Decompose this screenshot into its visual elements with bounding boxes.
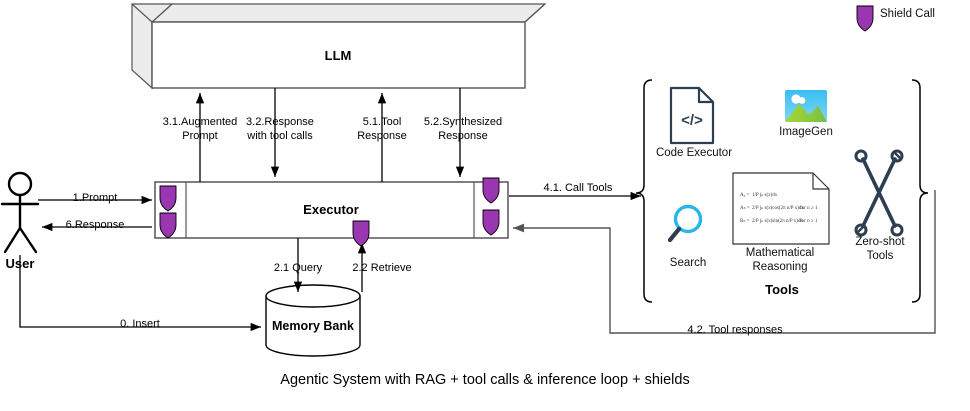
edge-insert — [20, 255, 261, 327]
tool-label-search: Search — [653, 257, 723, 271]
edge-label-insert: 0. Insert — [85, 318, 195, 332]
diagram-canvas: </> A₀ = 1/P ∫ₚ s(x)dx Aₙ = 2/P ∫ₚ s(x)c… — [0, 0, 970, 411]
svg-text:for n ≥ 1: for n ≥ 1 — [800, 206, 818, 211]
svg-text:for n ≥ 1: for n ≥ 1 — [800, 219, 818, 224]
edge-label-response-with-tool-calls: 3.2.Response with tool calls — [222, 116, 338, 144]
tool-label-math-reasoning: Mathematical Reasoning — [730, 247, 830, 275]
edge-label-retrieve: 2.2 Retrieve — [327, 262, 437, 276]
executor-node-label: Executor — [271, 202, 391, 218]
shield-icon-exec-in-1 — [160, 186, 176, 211]
tools-group-label: Tools — [722, 282, 842, 298]
llm-node-label: LLM — [278, 48, 398, 64]
edge-label-prompt: 1.Prompt — [40, 192, 150, 206]
image-picture-icon — [785, 90, 827, 122]
tool-label-code-executor: Code Executor — [644, 147, 744, 161]
crossed-wrenches-icon — [856, 151, 902, 235]
llm-node-shape — [132, 4, 545, 88]
legend-label-shield-call: Shield Call — [880, 8, 970, 22]
memory-bank-node-label: Memory Bank — [253, 319, 373, 335]
svg-text:A₀ =: A₀ = — [740, 193, 750, 198]
shield-icon-exec-out-2 — [483, 210, 499, 235]
edge-label-synthesized-response: 5.2.Synthesized Response — [404, 116, 522, 144]
svg-text:Bₙ =: Bₙ = — [740, 219, 750, 224]
svg-text:Aₙ =: Aₙ = — [740, 206, 750, 211]
svg-text:</>: </> — [681, 112, 703, 129]
svg-text:1/P ∫ₚ s(x)dx: 1/P ∫ₚ s(x)dx — [752, 192, 778, 198]
edge-label-response: 6.Response — [40, 219, 150, 233]
magnifier-icon — [670, 207, 701, 241]
code-document-icon: </> — [671, 88, 713, 143]
svg-text:2/P ∫ₚ s(x)cos(2π n/P x)dx: 2/P ∫ₚ s(x)cos(2π n/P x)dx — [752, 205, 804, 211]
svg-text:2/P ∫ₚ s(x)sin(2π n/P x)dx: 2/P ∫ₚ s(x)sin(2π n/P x)dx — [752, 218, 803, 224]
tools-bracket-right — [912, 80, 928, 302]
tool-label-imagegen: ImageGen — [766, 126, 846, 140]
diagram-caption: Agentic System with RAG + tool calls & i… — [0, 372, 970, 388]
tool-label-zero-shot-tools: Zero-shot Tools — [841, 236, 919, 264]
user-node-label: User — [0, 256, 50, 272]
user-stick-figure-icon — [2, 173, 38, 252]
shield-icon-memory — [353, 221, 369, 246]
shield-icon-exec-in-2 — [160, 213, 176, 238]
tools-bracket-left — [636, 80, 652, 302]
edge-label-tool-responses: 4.2. Tool responses — [670, 324, 800, 338]
shield-icon-exec-out-1 — [483, 178, 499, 203]
shield-icon-legend — [857, 6, 873, 31]
edge-label-call-tools: 4.1. Call Tools — [528, 182, 628, 196]
formula-document-icon: A₀ = 1/P ∫ₚ s(x)dx Aₙ = 2/P ∫ₚ s(x)cos(2… — [733, 173, 829, 244]
